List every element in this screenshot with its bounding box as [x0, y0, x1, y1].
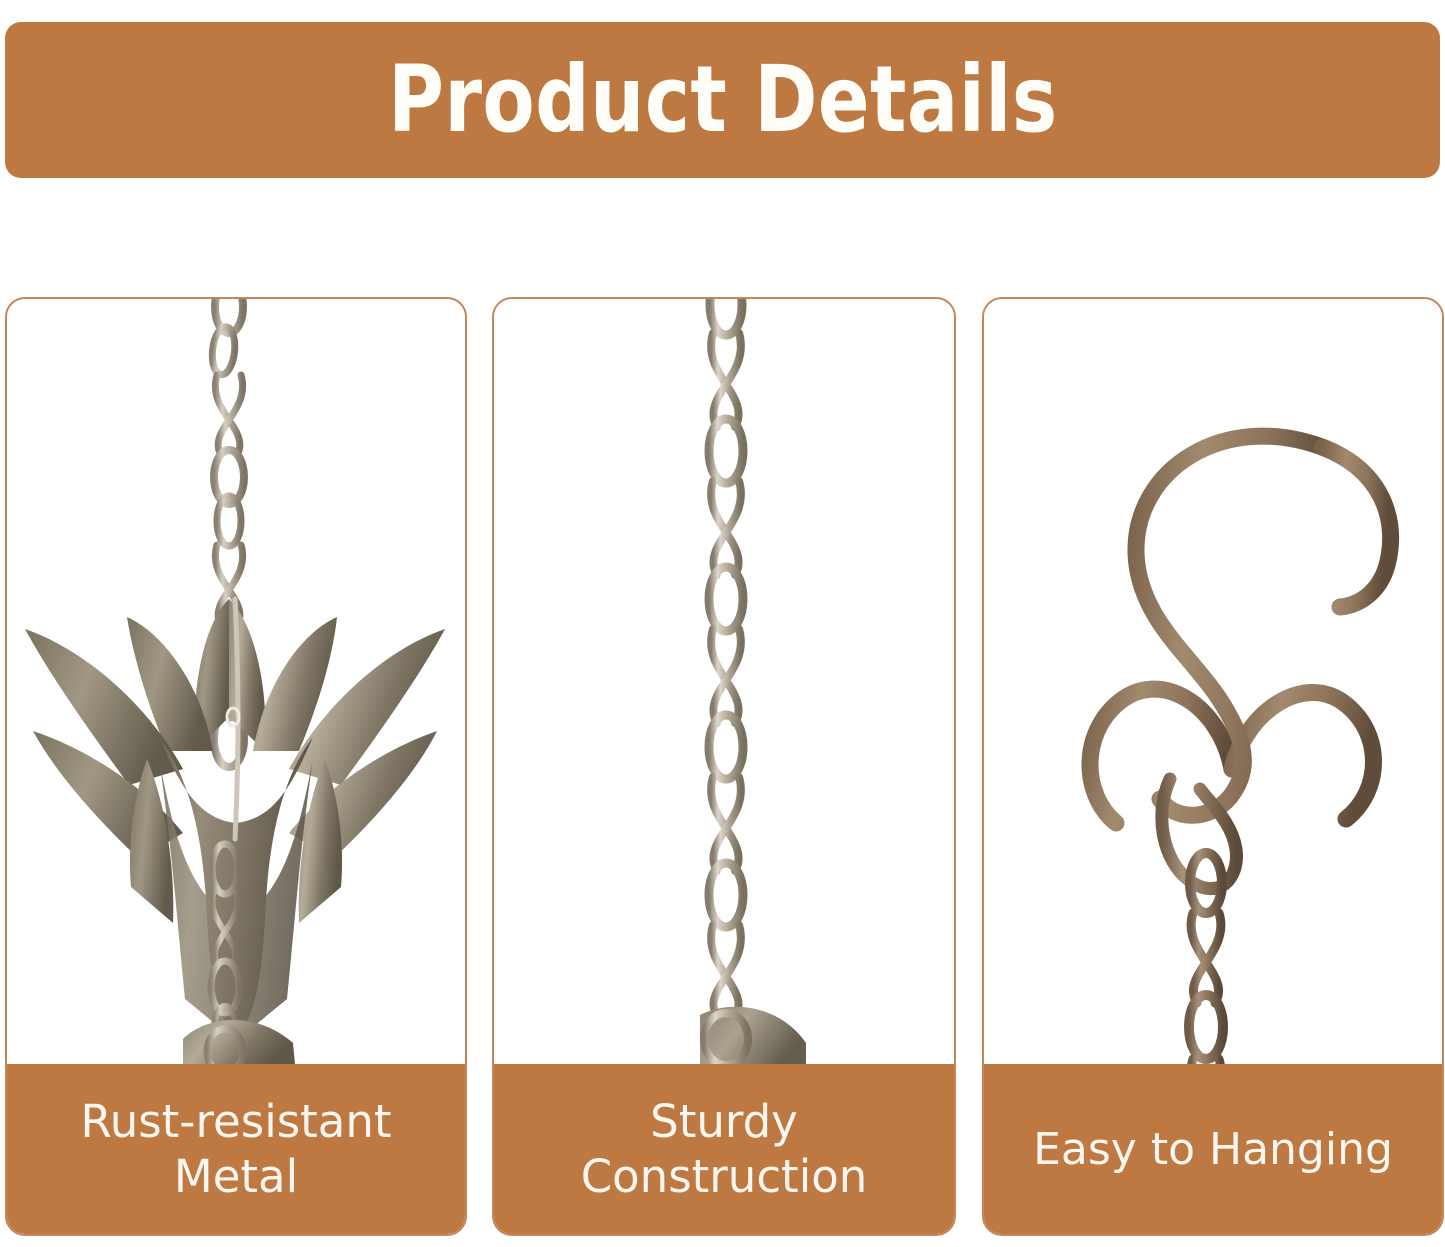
rust-resistant-metal-photo	[7, 299, 465, 1064]
metal-lily-flower-illustration	[7, 299, 465, 1064]
card-label-band: Easy to Hanging	[982, 1064, 1444, 1236]
feature-card-sturdy-construction: Sturdy Construction	[492, 297, 956, 1236]
page-title: Product Details	[388, 54, 1058, 146]
feature-label-text: Rust-resistant Metal	[80, 1095, 391, 1205]
s-hook-and-chain-illustration	[984, 299, 1442, 1064]
header-banner: Product Details	[5, 22, 1440, 178]
feature-card-easy-to-hanging: Easy to Hanging	[982, 297, 1444, 1236]
card-label-band: Rust-resistant Metal	[5, 1064, 467, 1236]
easy-to-hanging-photo	[984, 299, 1442, 1064]
sturdy-construction-photo	[494, 299, 954, 1064]
infographic-page: Product Details	[0, 0, 1445, 1247]
feature-label-text: Sturdy Construction	[581, 1095, 868, 1205]
card-label-band: Sturdy Construction	[492, 1064, 956, 1236]
feature-label-text: Easy to Hanging	[1033, 1123, 1393, 1177]
feature-card-rust-resistant-metal: Rust-resistant Metal	[5, 297, 467, 1236]
metal-chain-illustration	[494, 299, 954, 1064]
